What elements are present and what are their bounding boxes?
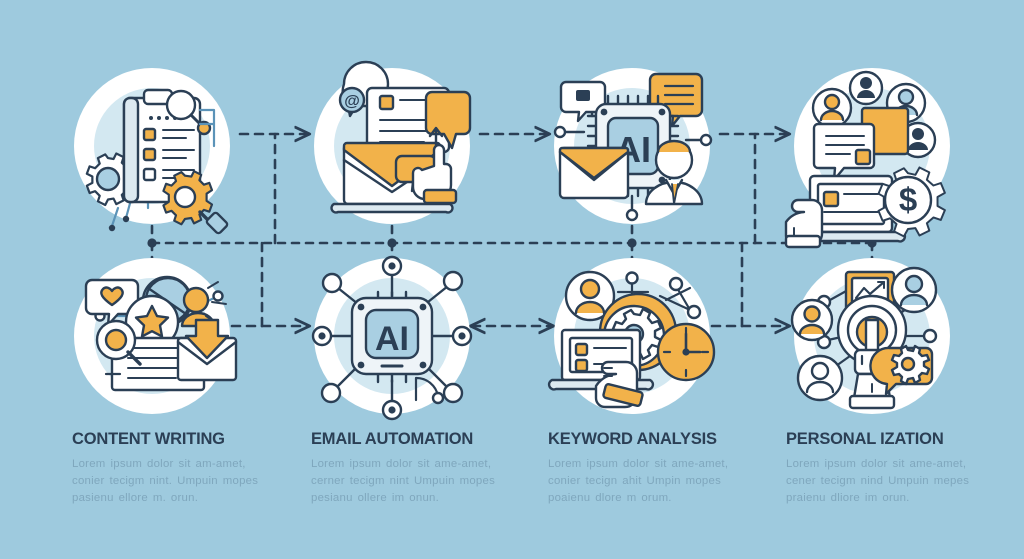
step-block-2: EMAIL AUTOMATION Lorem ipsum dolor sit a… [311,430,511,507]
step-block-4: PERSONAL IZATION Lorem ipsum dolor sit a… [786,430,986,507]
step-title-personalization: PERSONAL IZATION [786,430,986,449]
step-body-personalization: Lorem ipsum dolor sit ame-amet, cener te… [786,456,986,507]
step-body-content-writing: Lorem ipsum dolor sit am-amet, conier te… [72,456,272,507]
step-body-keyword-analysis: Lorem ipsum dolor sit ame-amet, conier t… [548,456,748,507]
step-block-3: KEYWORD ANALYSIS Lorem ipsum dolor sit a… [548,430,748,507]
trunk-horizontal-middle [147,238,876,247]
at-symbol-glyph: @ [344,93,360,110]
connector-network [147,134,876,326]
dollar-symbol-glyph: $ [899,181,917,218]
step-title-email-automation: EMAIL AUTOMATION [311,430,511,449]
step-title-content-writing: CONTENT WRITING [72,430,272,449]
step-body-email-automation: Lorem ipsum dolor sit ame-amet, cerner t… [311,456,511,507]
ai-chip-label-bottom: AI [375,320,409,358]
infographic-canvas: @ [0,0,1024,559]
step-block-1: CONTENT WRITING Lorem ipsum dolor sit am… [72,430,272,507]
trunk-vertical-stubs [152,226,872,258]
content-feedback-star-icon [86,277,236,390]
step-title-keyword-analysis: KEYWORD ANALYSIS [548,430,748,449]
